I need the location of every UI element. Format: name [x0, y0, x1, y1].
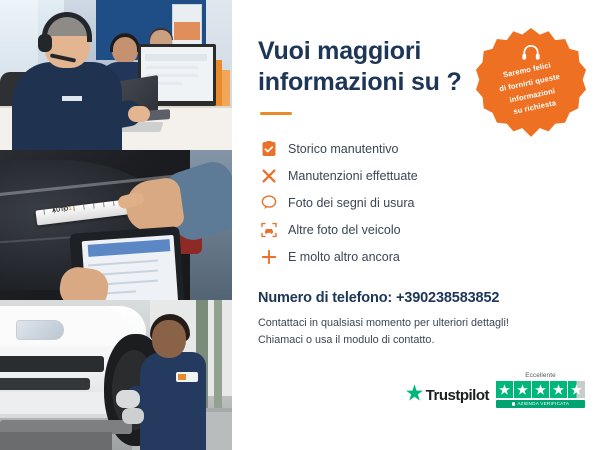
car-viewfinder-icon: [258, 220, 280, 240]
mechanic-badge: [176, 372, 198, 382]
title-divider: [260, 112, 292, 115]
star-filled-icon: [496, 381, 513, 398]
list-item: Foto dei segni di usura: [258, 189, 600, 216]
call-center-agents-photo: [0, 0, 232, 150]
phone-number[interactable]: +390238583852: [396, 290, 499, 306]
page-title: Vuoi maggiori informazioni su ?: [258, 36, 473, 98]
trustpilot-rating-label: Eccellente: [525, 372, 556, 379]
vehicle-inspection-ruler-photo: AUTO1: [0, 150, 232, 300]
contact-subtext-line2: Chiamaci o usa il modulo di contatto.: [258, 332, 600, 349]
list-item-label: Storico manutentivo: [288, 142, 398, 156]
headset-earcup: [38, 34, 52, 52]
car-bumper: [0, 392, 118, 414]
mechanic-head: [152, 320, 186, 358]
verified-check-icon: [512, 402, 516, 406]
car-grille-lower: [0, 378, 90, 390]
car-headlight: [16, 320, 64, 340]
speech-bubble-icon: [258, 193, 280, 213]
mechanic-wheel-inspection-photo: [0, 300, 232, 450]
list-item: E molto altro ancora: [258, 243, 600, 270]
verified-business-badge: AZIENDA VERIFICATA: [496, 400, 585, 408]
car-lift-base: [0, 432, 112, 450]
star-filled-icon: [550, 381, 567, 398]
monitor-line: [146, 66, 198, 69]
list-item-label: Altre foto del veicolo: [288, 223, 401, 237]
mechanic-glove: [116, 390, 140, 408]
list-item: Altre foto del veicolo: [258, 216, 600, 243]
plus-icon: [258, 247, 280, 267]
page-title-line2: informazioni su ?: [258, 67, 473, 98]
contact-subtext: Contattaci in qualsiasi momento per ulte…: [258, 315, 600, 350]
list-item: Manutenzioni effettuate: [258, 162, 600, 189]
list-item: Storico manutentivo: [258, 135, 600, 162]
photo-column: AUTO1: [0, 0, 232, 450]
list-item-label: Foto dei segni di usura: [288, 196, 414, 210]
monitor-toolbar: [145, 54, 207, 61]
trustpilot-stars: [496, 381, 585, 398]
agent1-logo: [62, 96, 82, 101]
phone-line: Numero di telefono: +390238583852: [258, 290, 600, 306]
info-on-request-badge: Saremo felici di fornirti queste informa…: [476, 28, 586, 138]
wrench-cross-icon: [258, 166, 280, 186]
trustpilot-rating[interactable]: Trustpilot Eccellente: [406, 372, 585, 408]
verified-business-label: AZIENDA VERIFICATA: [517, 401, 569, 406]
page-title-line1: Vuoi maggiori: [258, 36, 473, 67]
trustpilot-logo: Trustpilot: [406, 384, 489, 408]
promo-banner: AUTO1: [0, 0, 600, 450]
content-panel: Vuoi maggiori informazioni su ? Saremo f…: [232, 0, 600, 450]
list-item-label: E molto altro ancora: [288, 250, 400, 264]
agent1-hand: [128, 106, 150, 122]
trustpilot-score: Eccellente: [496, 372, 585, 408]
mechanic-glove-2: [122, 408, 144, 424]
contact-subtext-line1: Contattaci in qualsiasi momento per ulte…: [258, 315, 600, 332]
trustpilot-star-icon: [406, 384, 423, 406]
star-half-icon: [568, 381, 585, 398]
clipboard-check-icon: [258, 139, 280, 159]
wall-poster-image: [174, 22, 200, 40]
star-filled-icon: [514, 381, 531, 398]
star-filled-icon: [532, 381, 549, 398]
feature-list: Storico manutentivo Manutenzioni effettu…: [258, 135, 600, 270]
list-item-label: Manutenzioni effettuate: [288, 169, 418, 183]
trustpilot-wordmark: Trustpilot: [426, 387, 489, 404]
car-grille: [0, 356, 104, 372]
phone-label: Numero di telefono:: [258, 290, 392, 306]
